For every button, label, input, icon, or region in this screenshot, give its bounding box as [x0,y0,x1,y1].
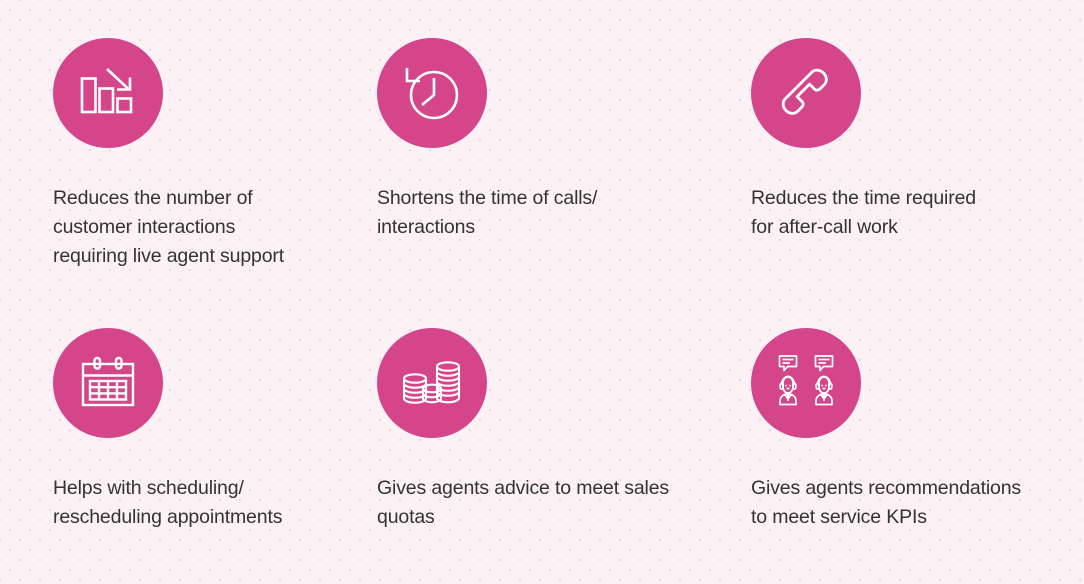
benefit-card-reduces-interactions: Reduces the number of customer interacti… [53,38,377,328]
calendar-icon [77,352,139,414]
benefit-label: Gives agents recommendations to meet ser… [751,474,1061,532]
benefit-label: Reduces the number of customer interacti… [53,184,353,271]
benefit-card-sales-quotas: Gives agents advice to meet sales quotas [377,328,751,532]
benefit-card-shortens-call-time: Shortens the time of calls/ interactions [377,38,751,328]
icon-circle [751,38,861,148]
benefit-label: Gives agents advice to meet sales quotas [377,474,707,532]
support-agents-chat-icon [775,352,837,414]
telephone-handset-icon [775,62,837,124]
benefit-label: Shortens the time of calls/ interactions [377,184,707,242]
declining-bar-chart-icon [77,62,139,124]
coin-stacks-icon [401,352,463,414]
benefit-card-after-call-work: Reduces the time required for after-call… [751,38,1061,328]
benefit-label: Helps with scheduling/ rescheduling appo… [53,474,353,532]
benefits-grid: Reduces the number of customer interacti… [0,0,1084,584]
icon-circle [377,38,487,148]
icon-circle [751,328,861,438]
benefit-card-service-kpis: Gives agents recommendations to meet ser… [751,328,1061,532]
benefit-card-scheduling: Helps with scheduling/ rescheduling appo… [53,328,377,532]
benefit-label: Reduces the time required for after-call… [751,184,1061,242]
icon-circle [377,328,487,438]
icon-circle [53,328,163,438]
icon-circle [53,38,163,148]
clock-rewind-icon [401,62,463,124]
